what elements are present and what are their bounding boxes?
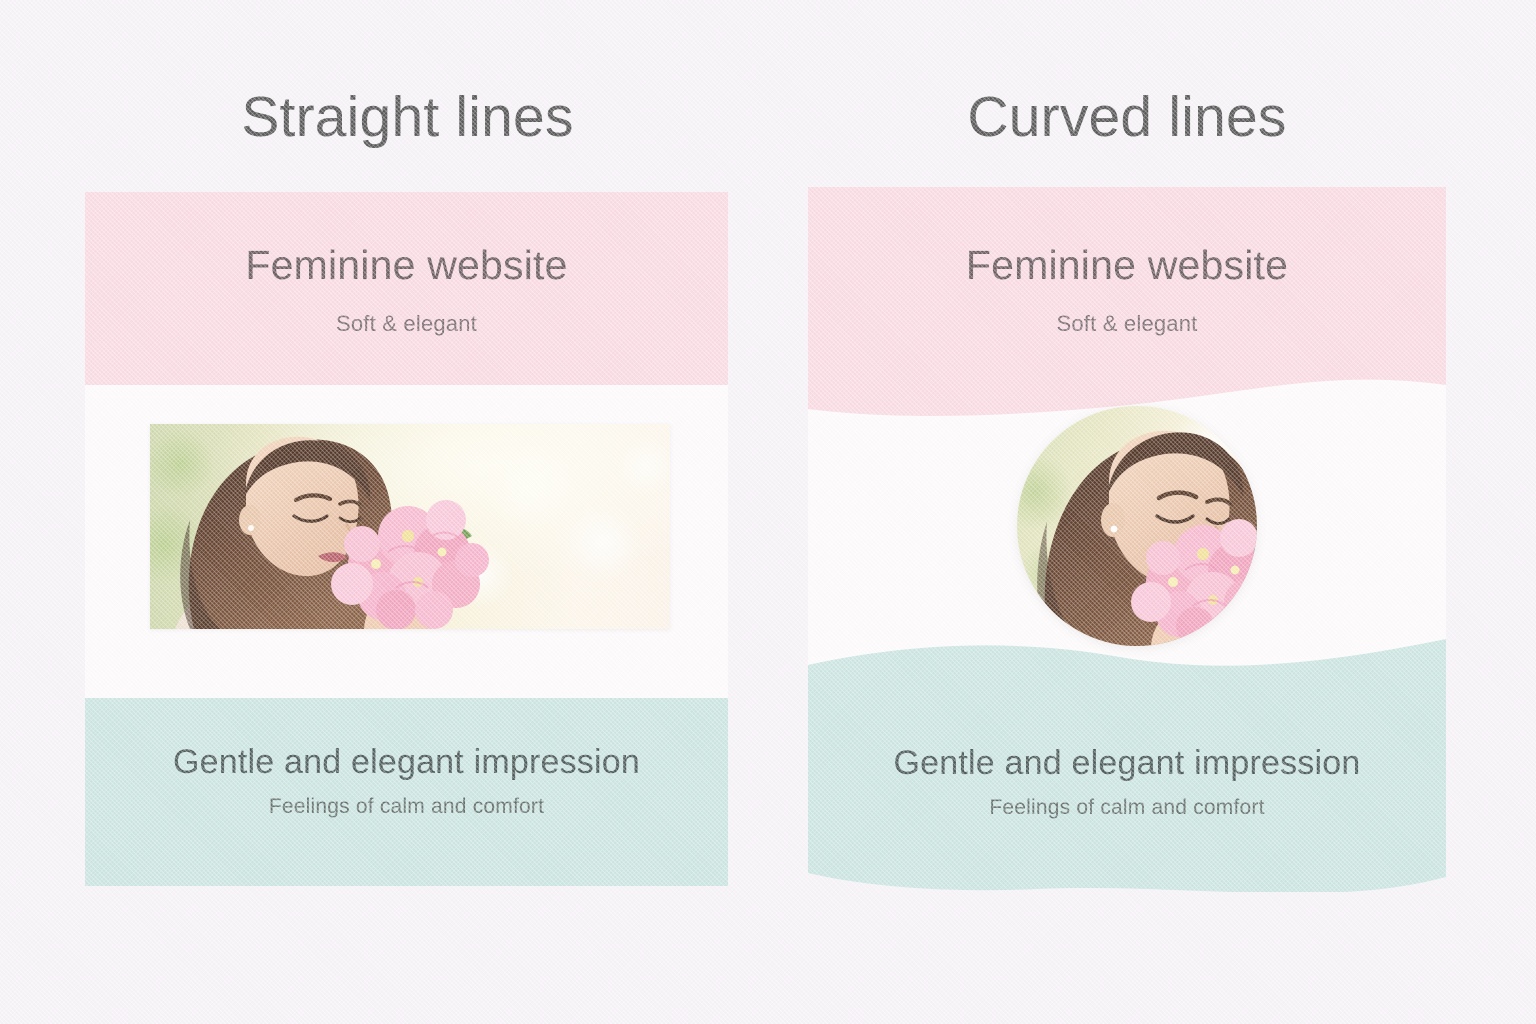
hero-photo-rectangle	[150, 424, 670, 629]
mockup-subtitle-curved: Soft & elegant	[808, 311, 1446, 337]
footer-band-straight	[85, 698, 728, 886]
panel-heading-straight: Straight lines	[85, 84, 730, 150]
mockup-title-straight: Feminine website	[85, 242, 728, 289]
website-mockup-straight: Feminine website Soft & elegant	[85, 192, 728, 886]
photo-illustration-circle	[1017, 406, 1257, 646]
mockup-footer-subtitle-curved: Feelings of calm and comfort	[808, 796, 1446, 820]
mockup-footer-subtitle-straight: Feelings of calm and comfort	[85, 795, 728, 819]
comparison-stage: Straight lines Curved lines Feminine web…	[0, 0, 1536, 1024]
mockup-footer-title-curved: Gentle and elegant impression	[808, 744, 1446, 783]
website-mockup-curved: Feminine website Soft & elegant	[808, 187, 1446, 892]
hero-photo-circle	[1017, 406, 1257, 646]
mockup-subtitle-straight: Soft & elegant	[85, 311, 728, 337]
mockup-title-curved: Feminine website	[808, 242, 1446, 289]
mockup-footer-title-straight: Gentle and elegant impression	[85, 743, 728, 782]
photo-illustration-rect	[150, 424, 670, 629]
panel-heading-curved: Curved lines	[808, 84, 1446, 150]
